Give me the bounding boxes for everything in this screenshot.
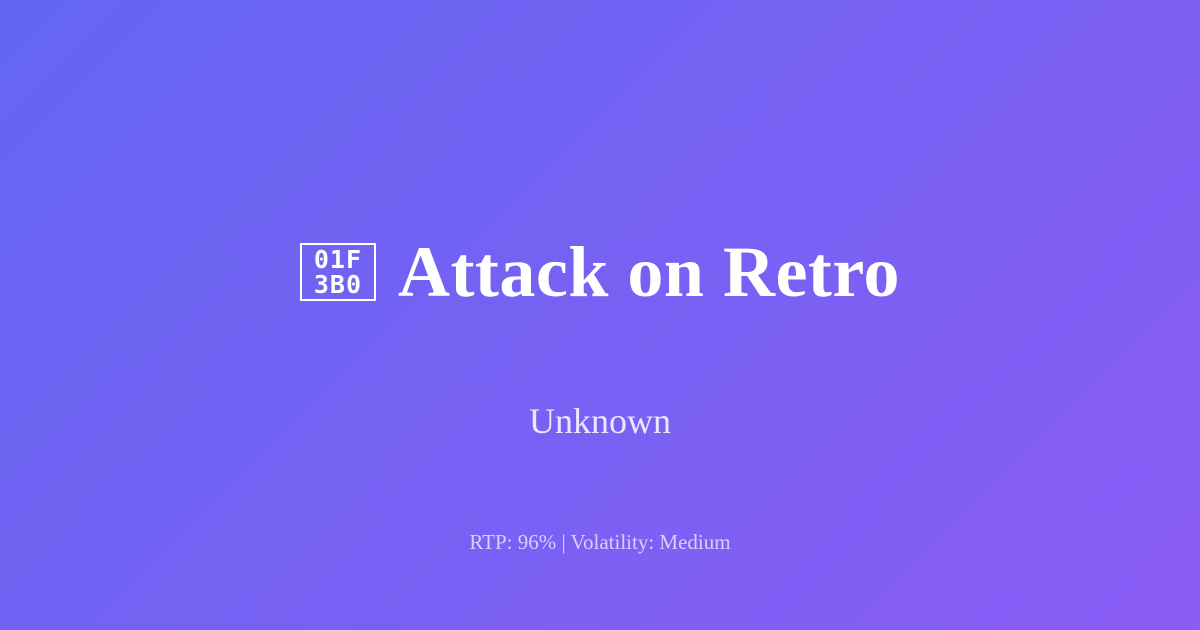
tofu-codepoint-bottom: 3B0 — [314, 272, 362, 297]
tofu-codepoint-top: 01F — [314, 247, 362, 272]
game-meta-line: RTP: 96% | Volatility: Medium — [0, 530, 1200, 555]
game-provider: Unknown — [529, 400, 671, 443]
game-og-card: 01F 3B0 Attack on Retro Unknown RTP: 96%… — [0, 0, 1200, 630]
slot-machine-emoji-icon: 01F 3B0 — [300, 243, 376, 301]
game-title: Attack on Retro — [398, 235, 900, 311]
title-row: 01F 3B0 Attack on Retro — [260, 186, 940, 358]
